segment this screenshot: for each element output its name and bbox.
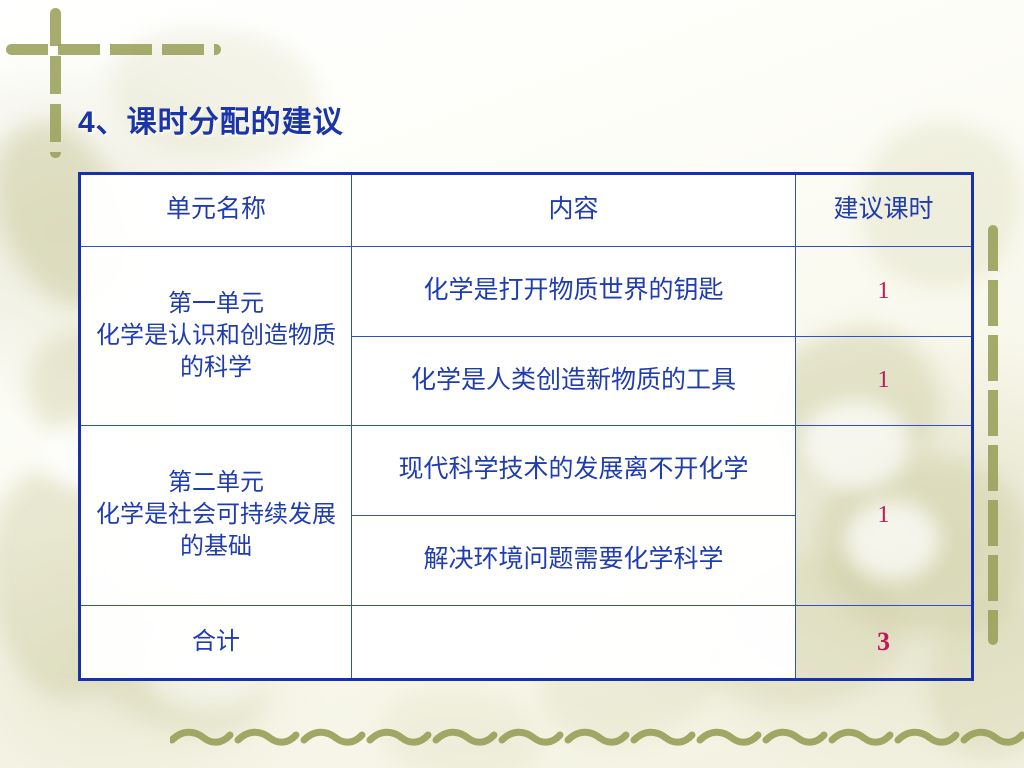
decorative-right-dashed-line: [988, 225, 998, 645]
decorative-vertical-dashed-line: [50, 8, 61, 158]
content-cell: 化学是人类创造新物质的工具: [352, 336, 796, 426]
table-row: 第二单元 化学是社会可持续发展的基础 现代科学技术的发展离不开化学 1: [80, 426, 973, 516]
total-label: 合计: [80, 605, 352, 680]
content-cell: 解决环境问题需要化学科学: [352, 515, 796, 605]
decorative-horizontal-dashed-line: [6, 44, 221, 55]
total-hours: 3: [796, 605, 973, 680]
hours-cell: 1: [796, 336, 973, 426]
table-header-row: 单元名称 内容 建议课时: [80, 174, 973, 247]
unit-number-label: 第一单元: [91, 288, 341, 320]
content-cell: 现代科学技术的发展离不开化学: [352, 426, 796, 516]
header-content: 内容: [352, 174, 796, 247]
floral-watermark-blob: [376, 682, 545, 768]
content-cell: 化学是打开物质世界的钥匙: [352, 247, 796, 337]
unit-cell-2: 第二单元 化学是社会可持续发展的基础: [80, 426, 352, 605]
hours-cell-merged: 1: [796, 426, 973, 605]
unit-title-label: 化学是认识和创造物质的科学: [91, 320, 341, 384]
decorative-bottom-wave-border: [170, 726, 1024, 748]
slide-title: 4、课时分配的建议: [78, 97, 344, 141]
hours-cell: 1: [796, 247, 973, 337]
unit-cell-1: 第一单元 化学是认识和创造物质的科学: [80, 247, 352, 426]
floral-watermark-blob: [102, 16, 328, 174]
table-row: 第一单元 化学是认识和创造物质的科学 化学是打开物质世界的钥匙 1: [80, 247, 973, 337]
unit-title-label: 化学是社会可持续发展的基础: [91, 499, 341, 563]
header-suggested-hours: 建议课时: [796, 174, 973, 247]
slide-canvas: 4、课时分配的建议 单元名称 内容 建议课时 第一单元 化学是认识和创造物质的科…: [0, 0, 1024, 768]
unit-number-label: 第二单元: [91, 467, 341, 499]
table-total-row: 合计 3: [80, 605, 973, 680]
total-content-empty: [352, 605, 796, 680]
lesson-allocation-table: 单元名称 内容 建议课时 第一单元 化学是认识和创造物质的科学 化学是打开物质世…: [78, 172, 974, 681]
header-unit-name: 单元名称: [80, 174, 352, 247]
